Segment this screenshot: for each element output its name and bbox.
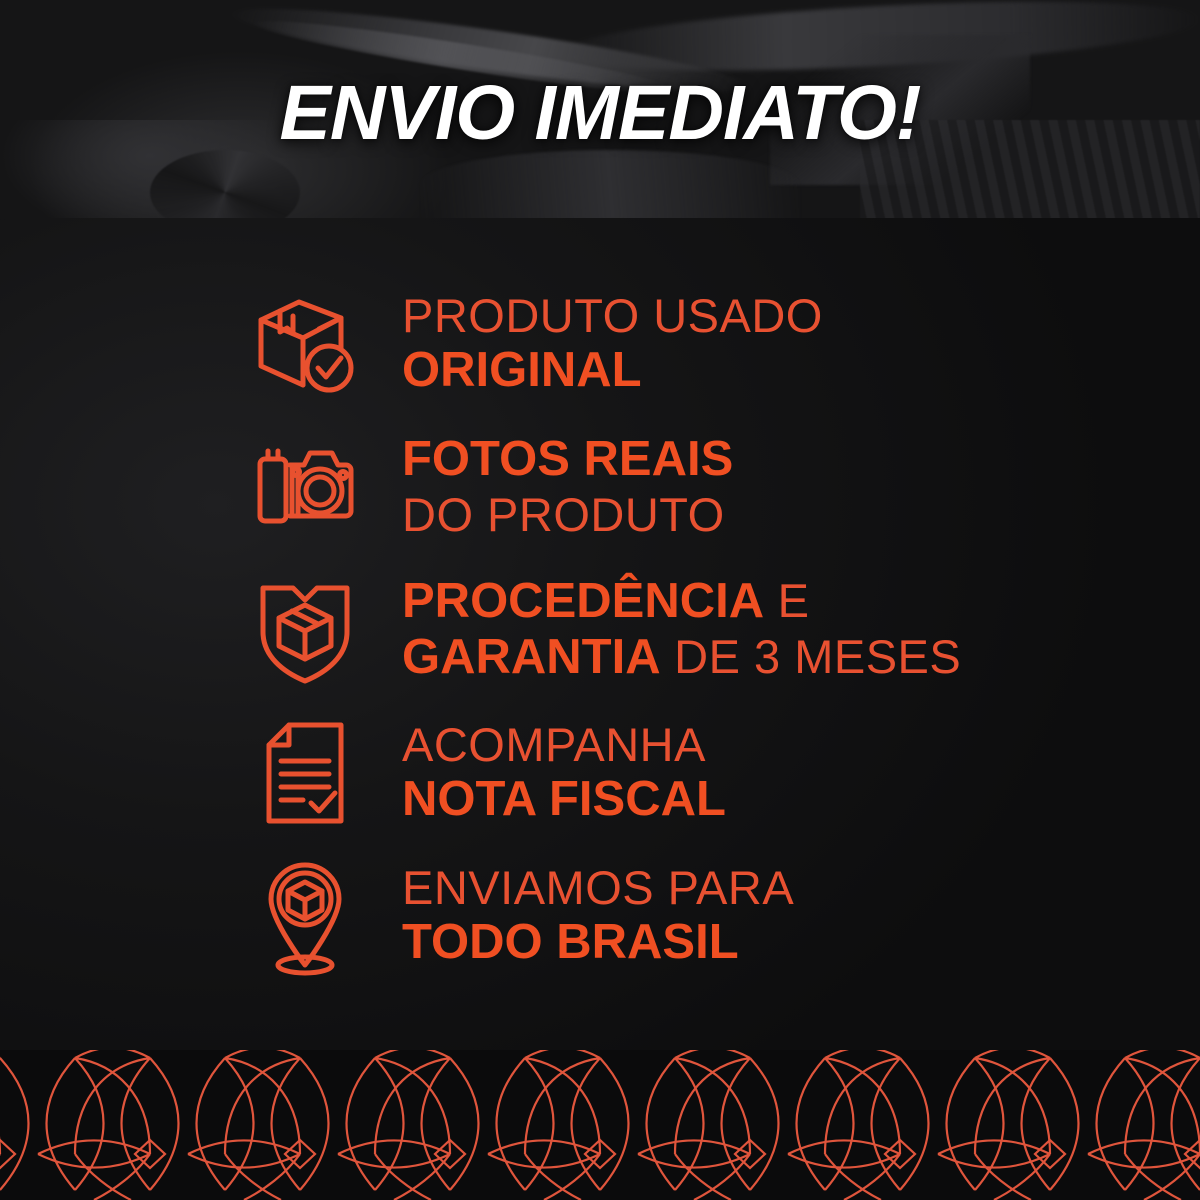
- petal-lattice-icon: [0, 1050, 1200, 1200]
- map-pin-box-icon: [240, 855, 370, 977]
- feature-row: PRODUTO USADO ORIGINAL: [240, 272, 1140, 415]
- feature-line-1: PROCEDÊNCIA E: [402, 577, 961, 626]
- feature-text: PRODUTO USADO ORIGINAL: [370, 292, 823, 395]
- feature-line-1-bold: PROCEDÊNCIA: [402, 574, 764, 628]
- promo-banner: ENVIO IMEDIATO! PRODUTO USADO ORIGIN: [0, 0, 1200, 1200]
- footer-pattern: [0, 1050, 1200, 1200]
- feature-line-1: FOTOS REAIS: [402, 435, 733, 484]
- feature-text: FOTOS REAIS DO PRODUTO: [370, 435, 733, 538]
- feature-line-1-light: E: [764, 574, 809, 627]
- header-title: ENVIO IMEDIATO!: [0, 0, 1200, 218]
- camera-icon: [240, 439, 370, 535]
- feature-line-1: ACOMPANHA: [402, 721, 726, 768]
- feature-row: ACOMPANHA NOTA FISCAL: [240, 701, 1140, 844]
- banner-header: ENVIO IMEDIATO!: [0, 0, 1200, 218]
- feature-list: PRODUTO USADO ORIGINAL: [240, 272, 1140, 987]
- box-check-icon: [240, 292, 370, 396]
- feature-line-2: DO PRODUTO: [402, 491, 733, 538]
- invoice-check-icon: [240, 719, 370, 827]
- feature-row: PROCEDÊNCIA E GARANTIA DE 3 MESES: [240, 558, 1140, 701]
- feature-line-1: PRODUTO USADO: [402, 292, 823, 339]
- feature-line-1: ENVIAMOS PARA: [402, 864, 794, 911]
- feature-text: PROCEDÊNCIA E GARANTIA DE 3 MESES: [370, 577, 961, 682]
- feature-row: FOTOS REAIS DO PRODUTO: [240, 415, 1140, 558]
- feature-line-2: TODO BRASIL: [402, 918, 794, 967]
- feature-line-2-bold: GARANTIA: [402, 630, 661, 684]
- feature-line-2-light: DE 3 MESES: [661, 630, 962, 683]
- feature-line-2: ORIGINAL: [402, 346, 823, 395]
- shield-box-icon: [240, 574, 370, 686]
- feature-row: ENVIAMOS PARA TODO BRASIL: [240, 844, 1140, 987]
- feature-text: ACOMPANHA NOTA FISCAL: [370, 721, 726, 824]
- feature-line-2: NOTA FISCAL: [402, 775, 726, 824]
- feature-line-2: GARANTIA DE 3 MESES: [402, 633, 961, 682]
- feature-text: ENVIAMOS PARA TODO BRASIL: [370, 864, 794, 967]
